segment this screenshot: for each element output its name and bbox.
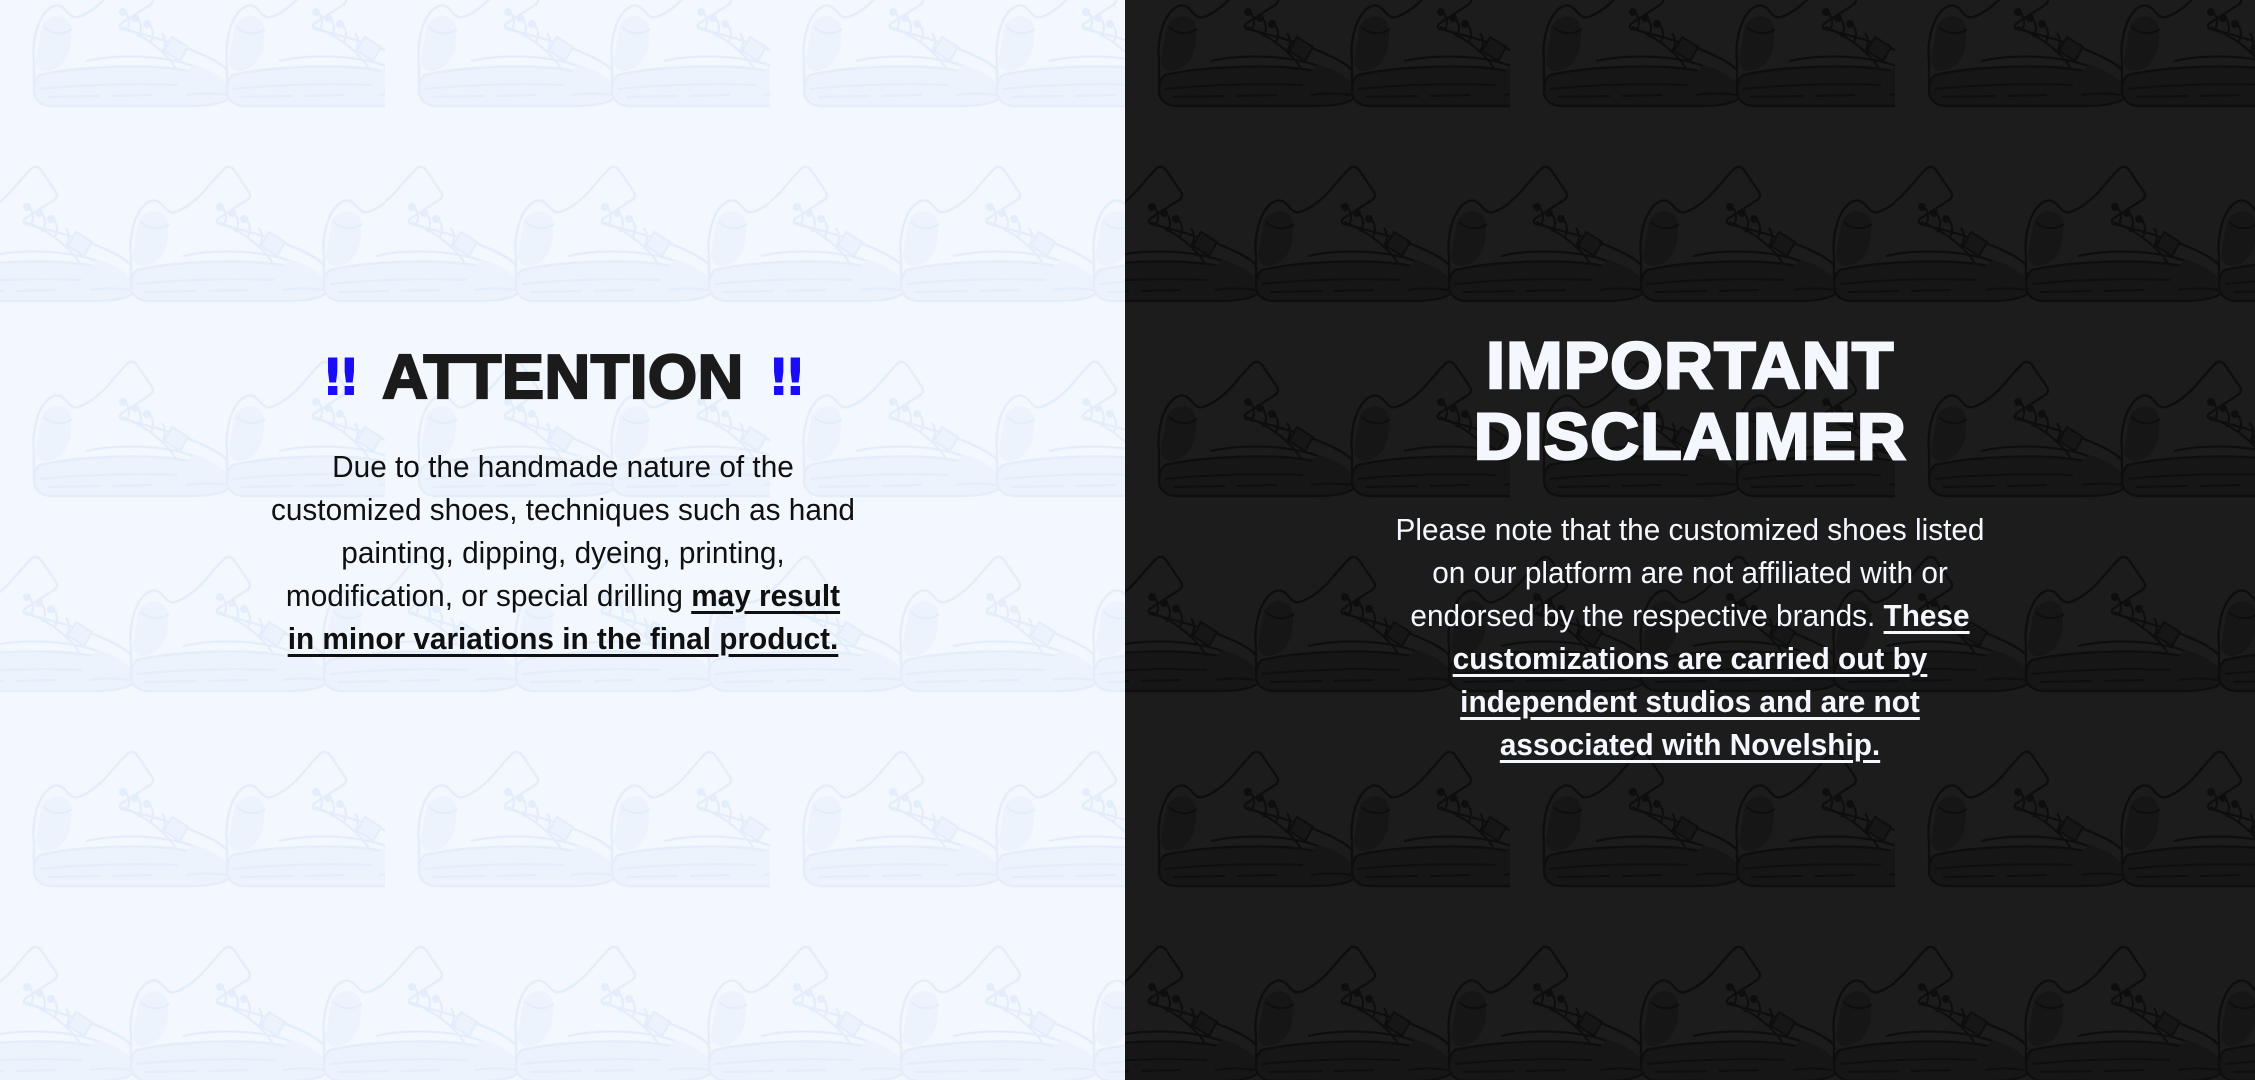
disclaimer-panel: IMPORTANT DISCLAIMER Please note that th… — [1125, 0, 2255, 1080]
disclaimer-body-text: Please note that the customized shoes li… — [1385, 508, 1996, 766]
disclaimer-banner: ‼ ATTENTION ‼ Due to the handmade nature… — [0, 0, 2255, 1080]
disclaimer-heading-line-1: IMPORTANT — [1486, 328, 1894, 402]
attention-heading: ‼ ATTENTION ‼ — [324, 347, 801, 409]
disclaimer-heading: IMPORTANT DISCLAIMER — [1473, 330, 1906, 471]
attention-body-text: Due to the handmade nature of the custom… — [270, 445, 856, 660]
attention-heading-text: ATTENTION — [382, 347, 744, 409]
attention-content: ‼ ATTENTION ‼ Due to the handmade nature… — [0, 0, 1125, 660]
double-exclamation-icon-left: ‼ — [324, 352, 355, 404]
disclaimer-content: IMPORTANT DISCLAIMER Please note that th… — [1125, 0, 2255, 766]
disclaimer-heading-line-2: DISCLAIMER — [1473, 399, 1906, 473]
attention-panel: ‼ ATTENTION ‼ Due to the handmade nature… — [0, 0, 1125, 1080]
double-exclamation-icon-right: ‼ — [770, 352, 801, 404]
